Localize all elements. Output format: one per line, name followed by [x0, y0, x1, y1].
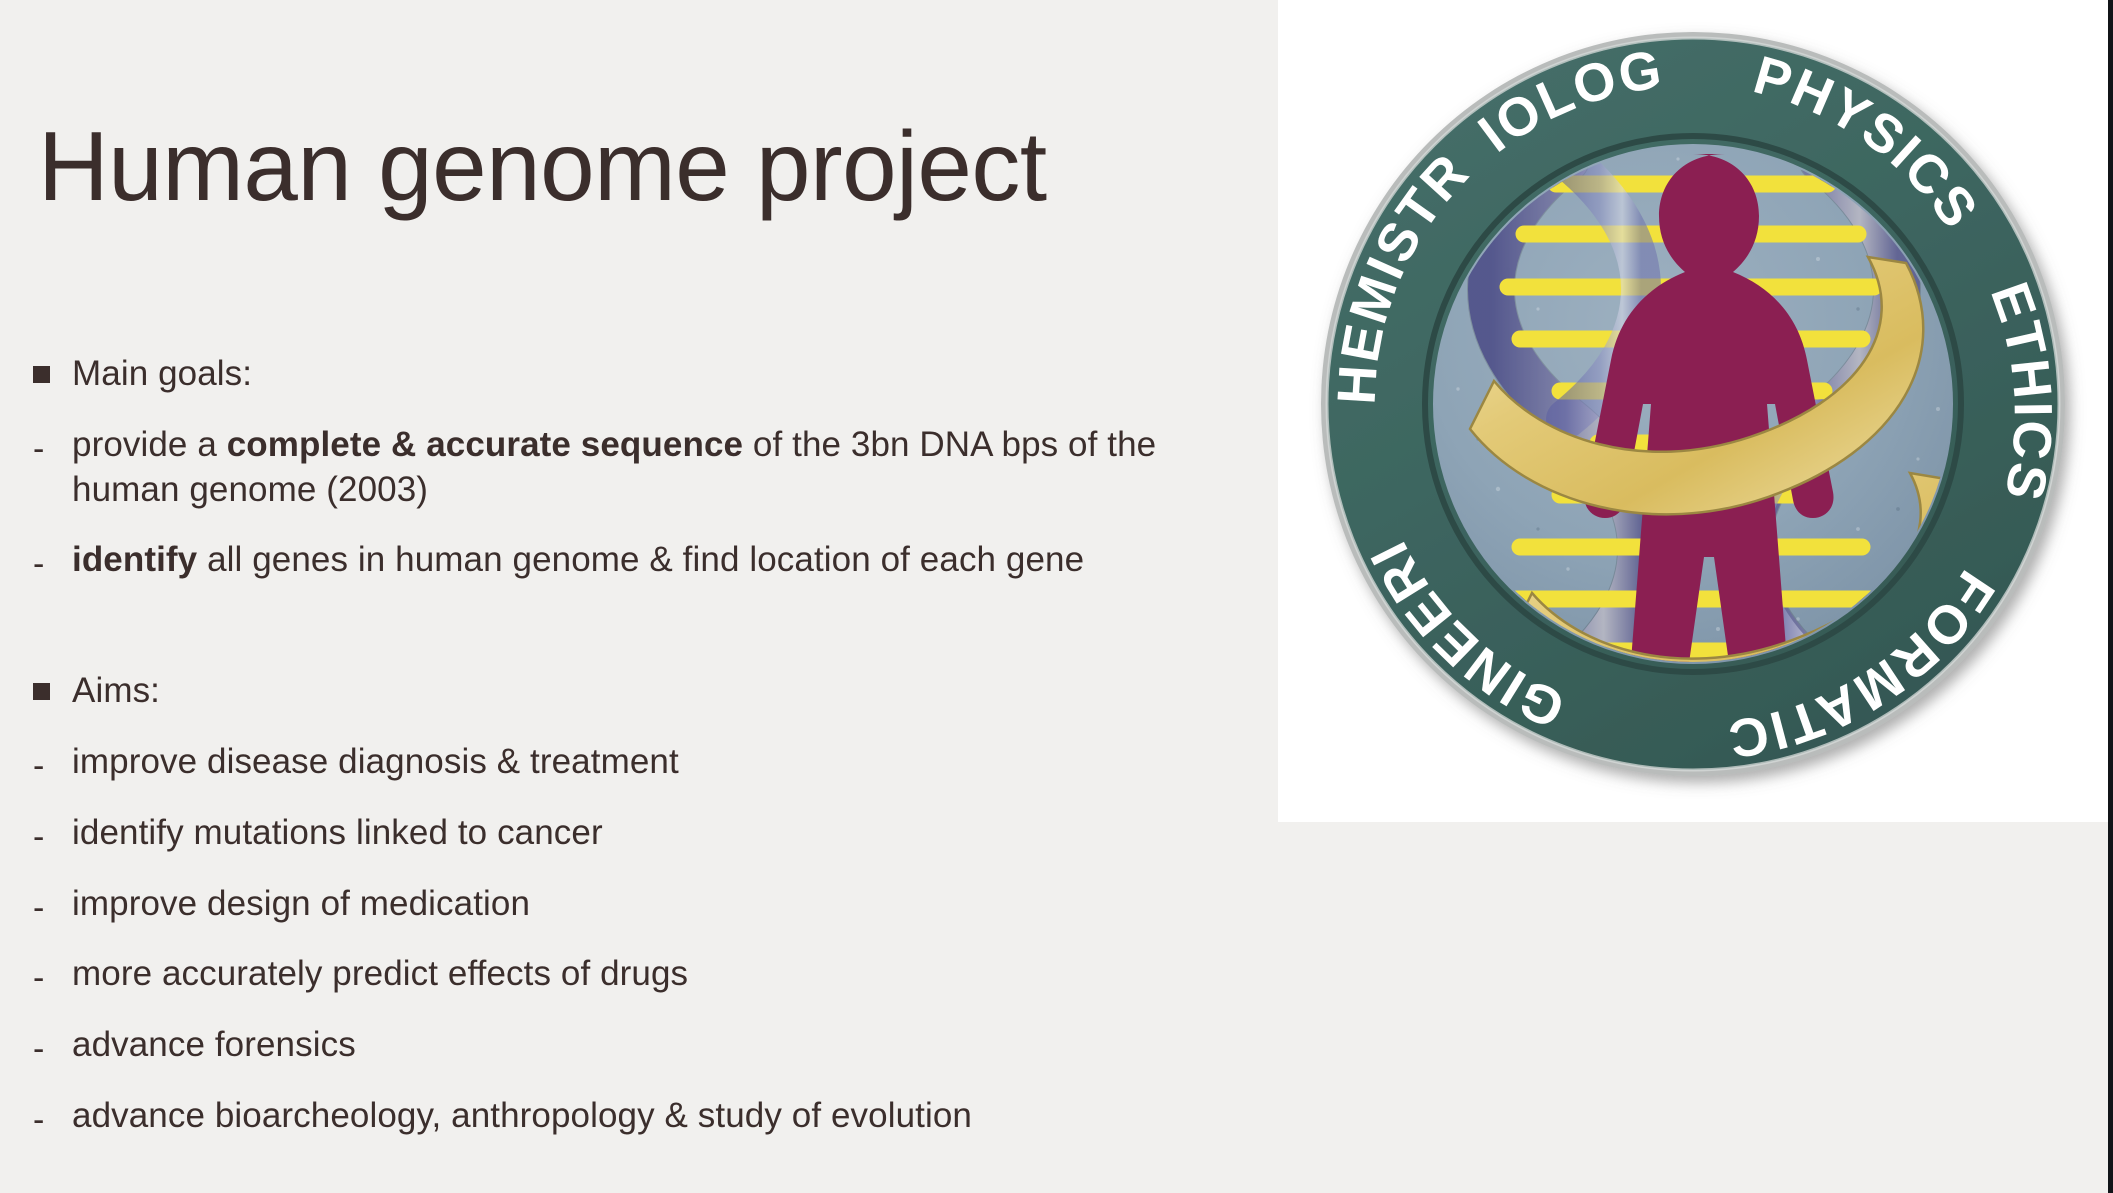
dash-bullet-glyph: -	[33, 749, 44, 783]
bullet-item: -advance forensics	[0, 1023, 1278, 1068]
dash-bullet-glyph: -	[33, 961, 44, 995]
dash-bullet-glyph: -	[33, 1032, 44, 1066]
bullet-list: Main goals:-provide a complete & accurat…	[0, 352, 1278, 1165]
bullet-text-segment: Main goals:	[72, 354, 252, 393]
square-bullet-glyph	[33, 366, 50, 383]
dash-bullet-icon: -	[0, 423, 72, 466]
bullet-item: -more accurately predict effects of drug…	[0, 952, 1278, 997]
dash-bullet-glyph: -	[33, 547, 44, 581]
bullet-item: -advance bioarcheology, anthropology & s…	[0, 1094, 1278, 1139]
dash-bullet-glyph: -	[33, 432, 44, 466]
bullet-text: advance forensics	[72, 1023, 1278, 1068]
bullet-text: identify mutations linked to cancer	[72, 811, 1278, 856]
bullet-item: -improve disease diagnosis & treatment	[0, 740, 1278, 785]
dash-bullet-icon: -	[0, 811, 72, 854]
slide-text-column: Human genome project Main goals:-provide…	[0, 0, 1278, 1193]
bullet-text: advance bioarcheology, anthropology & st…	[72, 1094, 1278, 1139]
bullet-text: provide a complete & accurate sequence o…	[72, 423, 1278, 513]
bullet-text-emphasis: identify	[72, 540, 197, 579]
bullet-item: -identify mutations linked to cancer	[0, 811, 1278, 856]
bullet-item: -identify all genes in human genome & fi…	[0, 538, 1278, 583]
page-title: Human genome project	[38, 117, 1047, 215]
bullet-item: -improve design of medication	[0, 882, 1278, 927]
bullet-text-segment: improve disease diagnosis & treatment	[72, 742, 679, 781]
bullet-text: Aims:	[72, 669, 1278, 714]
bullet-text: improve design of medication	[72, 882, 1278, 927]
dash-bullet-glyph: -	[33, 820, 44, 854]
bullet-item: Main goals:	[0, 352, 1278, 397]
dash-bullet-glyph: -	[33, 891, 44, 925]
bullet-text: more accurately predict effects of drugs	[72, 952, 1278, 997]
square-bullet-glyph	[33, 683, 50, 700]
bullet-text-segment: advance bioarcheology, anthropology & st…	[72, 1096, 972, 1135]
bullet-text-segment: Aims:	[72, 671, 160, 710]
bullet-text: improve disease diagnosis & treatment	[72, 740, 1278, 785]
bullet-text-segment: all genes in human genome & find locatio…	[197, 540, 1084, 579]
dash-bullet-icon: -	[0, 740, 72, 783]
bullet-item: -provide a complete & accurate sequence …	[0, 423, 1278, 513]
bullet-text: Main goals:	[72, 352, 1278, 397]
bullet-text-segment: provide a	[72, 425, 227, 464]
dash-bullet-icon: -	[0, 882, 72, 925]
dash-bullet-icon: -	[0, 952, 72, 995]
bullet-text-emphasis: complete & accurate sequence	[227, 425, 743, 464]
bullet-text-segment: more accurately predict effects of drugs	[72, 954, 688, 993]
bullet-group-spacer	[0, 609, 1278, 669]
square-bullet-icon	[0, 352, 72, 383]
slide-canvas: Human genome project Main goals:-provide…	[0, 0, 2113, 1193]
dash-bullet-icon: -	[0, 1023, 72, 1066]
dash-bullet-icon: -	[0, 538, 72, 581]
bullet-item: Aims:	[0, 669, 1278, 714]
logo-image-panel: CHEMISTRY BIOLOGY PHYSICS ETHICS INFORMA…	[1278, 0, 2108, 822]
bullet-text-segment: improve design of medication	[72, 884, 530, 923]
bullet-text-segment: identify mutations linked to cancer	[72, 813, 603, 852]
dash-bullet-glyph: -	[33, 1103, 44, 1137]
human-genome-project-seal-icon: CHEMISTRY BIOLOGY PHYSICS ETHICS INFORMA…	[1298, 9, 2088, 799]
dash-bullet-icon: -	[0, 1094, 72, 1137]
bullet-text-segment: advance forensics	[72, 1025, 356, 1064]
bullet-text: identify all genes in human genome & fin…	[72, 538, 1278, 583]
square-bullet-icon	[0, 669, 72, 700]
